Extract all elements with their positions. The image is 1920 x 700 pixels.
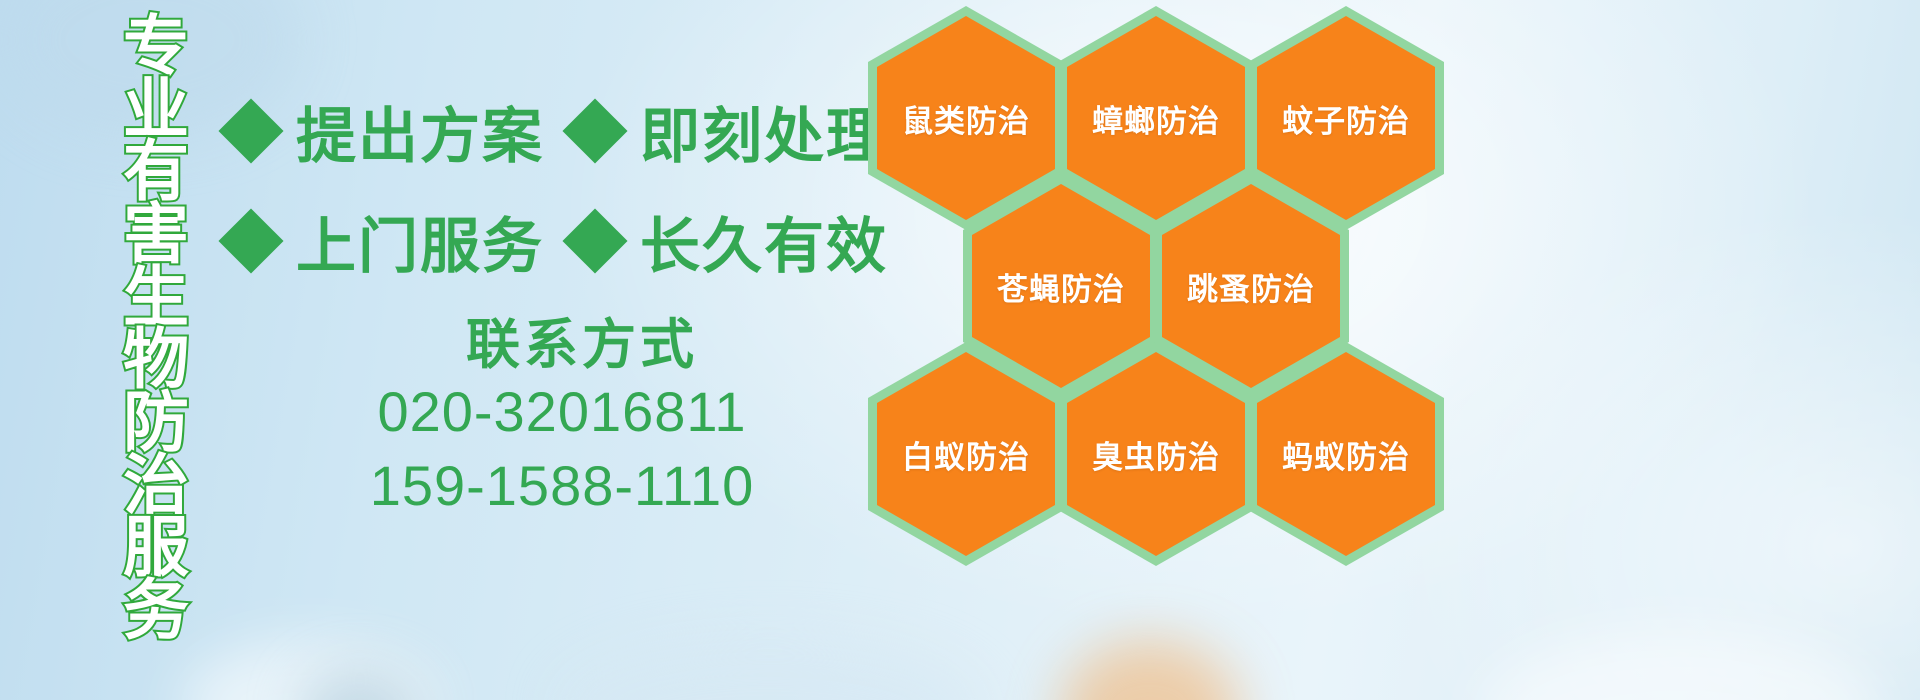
service-honeycomb: 鼠类防治 蟑螂防治 蚊子防治 苍蝇防治 跳蚤防治 白蚁防治	[856, 0, 1456, 560]
feature-label: 即刻处理	[640, 88, 888, 175]
feature-item: 上门服务	[228, 198, 544, 285]
background-blur-blob	[180, 640, 440, 700]
feature-item: 提出方案	[228, 88, 544, 175]
feature-label: 长久有效	[640, 198, 888, 285]
contact-phone-landline[interactable]: 020-32016811	[248, 375, 876, 449]
service-hex-label: 鼠类防治	[902, 96, 1030, 141]
background-blur-blob	[560, 640, 980, 700]
vertical-headline-char: 害	[123, 202, 189, 267]
diamond-bullet-icon	[218, 98, 283, 163]
vertical-headline-char: 防	[123, 390, 189, 455]
service-hex-termite[interactable]: 白蚁防治	[868, 342, 1064, 566]
contact-block: 联系方式 020-32016811 159-1588-1110	[228, 316, 876, 523]
feature-label: 上门服务	[296, 198, 544, 285]
service-hex-ant[interactable]: 蚂蚁防治	[1248, 342, 1444, 566]
feature-item: 长久有效	[572, 198, 888, 285]
contact-phone-mobile[interactable]: 159-1588-1110	[248, 449, 876, 523]
service-hex-label: 蚊子防治	[1282, 96, 1410, 141]
vertical-headline-char: 物	[123, 327, 189, 392]
diamond-bullet-icon	[562, 98, 627, 163]
vertical-headline-char: 有	[123, 139, 189, 204]
vertical-headline-char: 治	[123, 453, 189, 518]
feature-list: 提出方案 即刻处理 上门服务 长久有效	[228, 76, 868, 296]
background-blur-blob	[1480, 630, 1880, 700]
vertical-headline: 专 业 有 害 生 物 防 治 服 务	[108, 14, 204, 641]
service-hex-label: 蟑螂防治	[1092, 96, 1220, 141]
service-hex-label: 蚂蚁防治	[1282, 432, 1410, 477]
service-hex-bedbug[interactable]: 臭虫防治	[1058, 342, 1254, 566]
feature-row: 上门服务 长久有效	[228, 186, 868, 296]
vertical-headline-char: 生	[123, 265, 189, 330]
vertical-headline-char: 服	[123, 515, 189, 580]
service-hex-label: 白蚁防治	[902, 432, 1030, 477]
contact-title: 联系方式	[288, 316, 876, 375]
vertical-headline-char: 务	[123, 578, 189, 643]
vertical-headline-char: 专	[123, 14, 189, 79]
feature-row: 提出方案 即刻处理	[228, 76, 868, 186]
feature-item: 即刻处理	[572, 88, 888, 175]
background-blur-blob	[1060, 640, 1240, 700]
feature-label: 提出方案	[296, 88, 544, 175]
service-hex-label: 苍蝇防治	[997, 264, 1125, 309]
promo-banner: 专 业 有 害 生 物 防 治 服 务 提出方案 即刻处理 上门服务	[0, 0, 1920, 700]
background-blur-blob	[300, 670, 420, 700]
service-hex-label: 跳蚤防治	[1187, 264, 1315, 309]
diamond-bullet-icon	[562, 208, 627, 273]
diamond-bullet-icon	[218, 208, 283, 273]
vertical-headline-char: 业	[123, 77, 189, 142]
service-hex-label: 臭虫防治	[1092, 432, 1220, 477]
